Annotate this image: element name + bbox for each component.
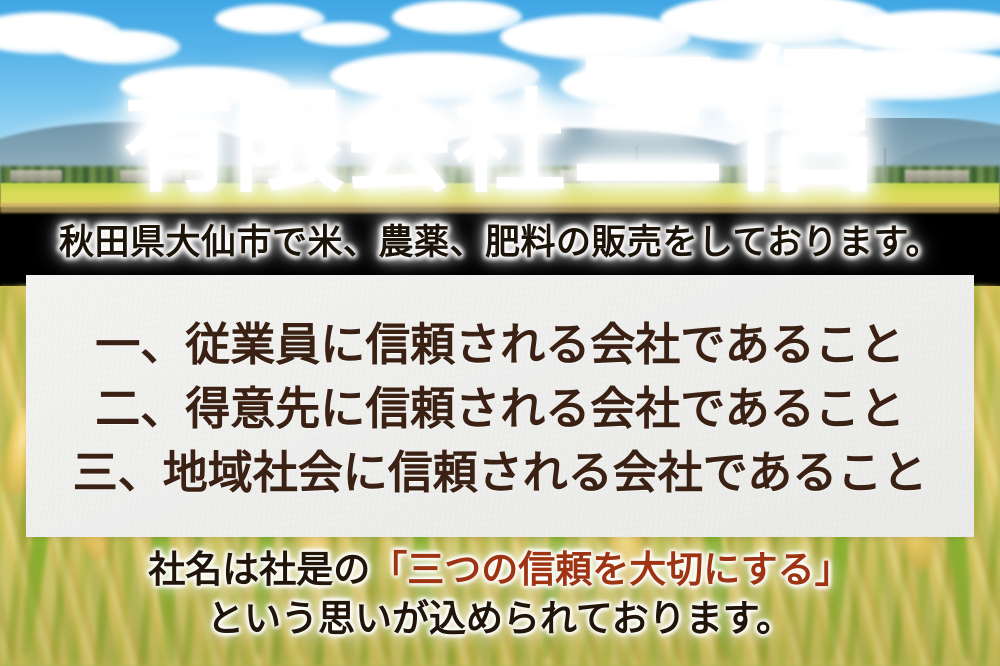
caption-line-2: という思いが込められております。 <box>0 594 1000 643</box>
utility-pole <box>182 150 184 180</box>
cloud-icon <box>60 30 180 64</box>
name-origin-caption: 社名は社是の「三つの信頼を大切にする」 という思いが込められております。 <box>0 545 1000 643</box>
creed-line: 一、従業員に信頼される会社であること <box>95 313 905 377</box>
cloud-icon <box>300 22 390 46</box>
village-building <box>560 170 606 182</box>
village-building <box>905 170 969 182</box>
caption-line-1: 社名は社是の「三つの信頼を大切にする」 <box>0 545 1000 594</box>
utility-pole <box>215 144 217 180</box>
utility-pole <box>636 146 638 180</box>
village-building <box>760 170 810 182</box>
poster-banner: 有限会社 三信 有限会社 三信 秋田県大仙市で米、農薬、肥料の販売をしております… <box>0 0 1000 666</box>
creed-line: 二、得意先に信頼される会社であること <box>95 377 905 441</box>
creed-line: 三、地域社会に信頼される会社であること <box>73 441 928 505</box>
village-building <box>10 170 62 182</box>
creed-panel: 一、従業員に信頼される会社であること 二、得意先に信頼される会社であること 三、… <box>26 275 974 537</box>
business-description: 秋田県大仙市で米、農薬、肥料の販売をしております。 <box>0 214 1000 265</box>
village-building <box>120 170 182 182</box>
caption-prefix: 社名は社是の <box>148 547 370 591</box>
utility-pole <box>884 148 886 180</box>
village-building <box>250 170 290 182</box>
utility-pole <box>300 152 302 180</box>
cloud-icon <box>392 0 522 34</box>
caption-accent: 「三つの信頼を大切にする」 <box>370 547 851 591</box>
